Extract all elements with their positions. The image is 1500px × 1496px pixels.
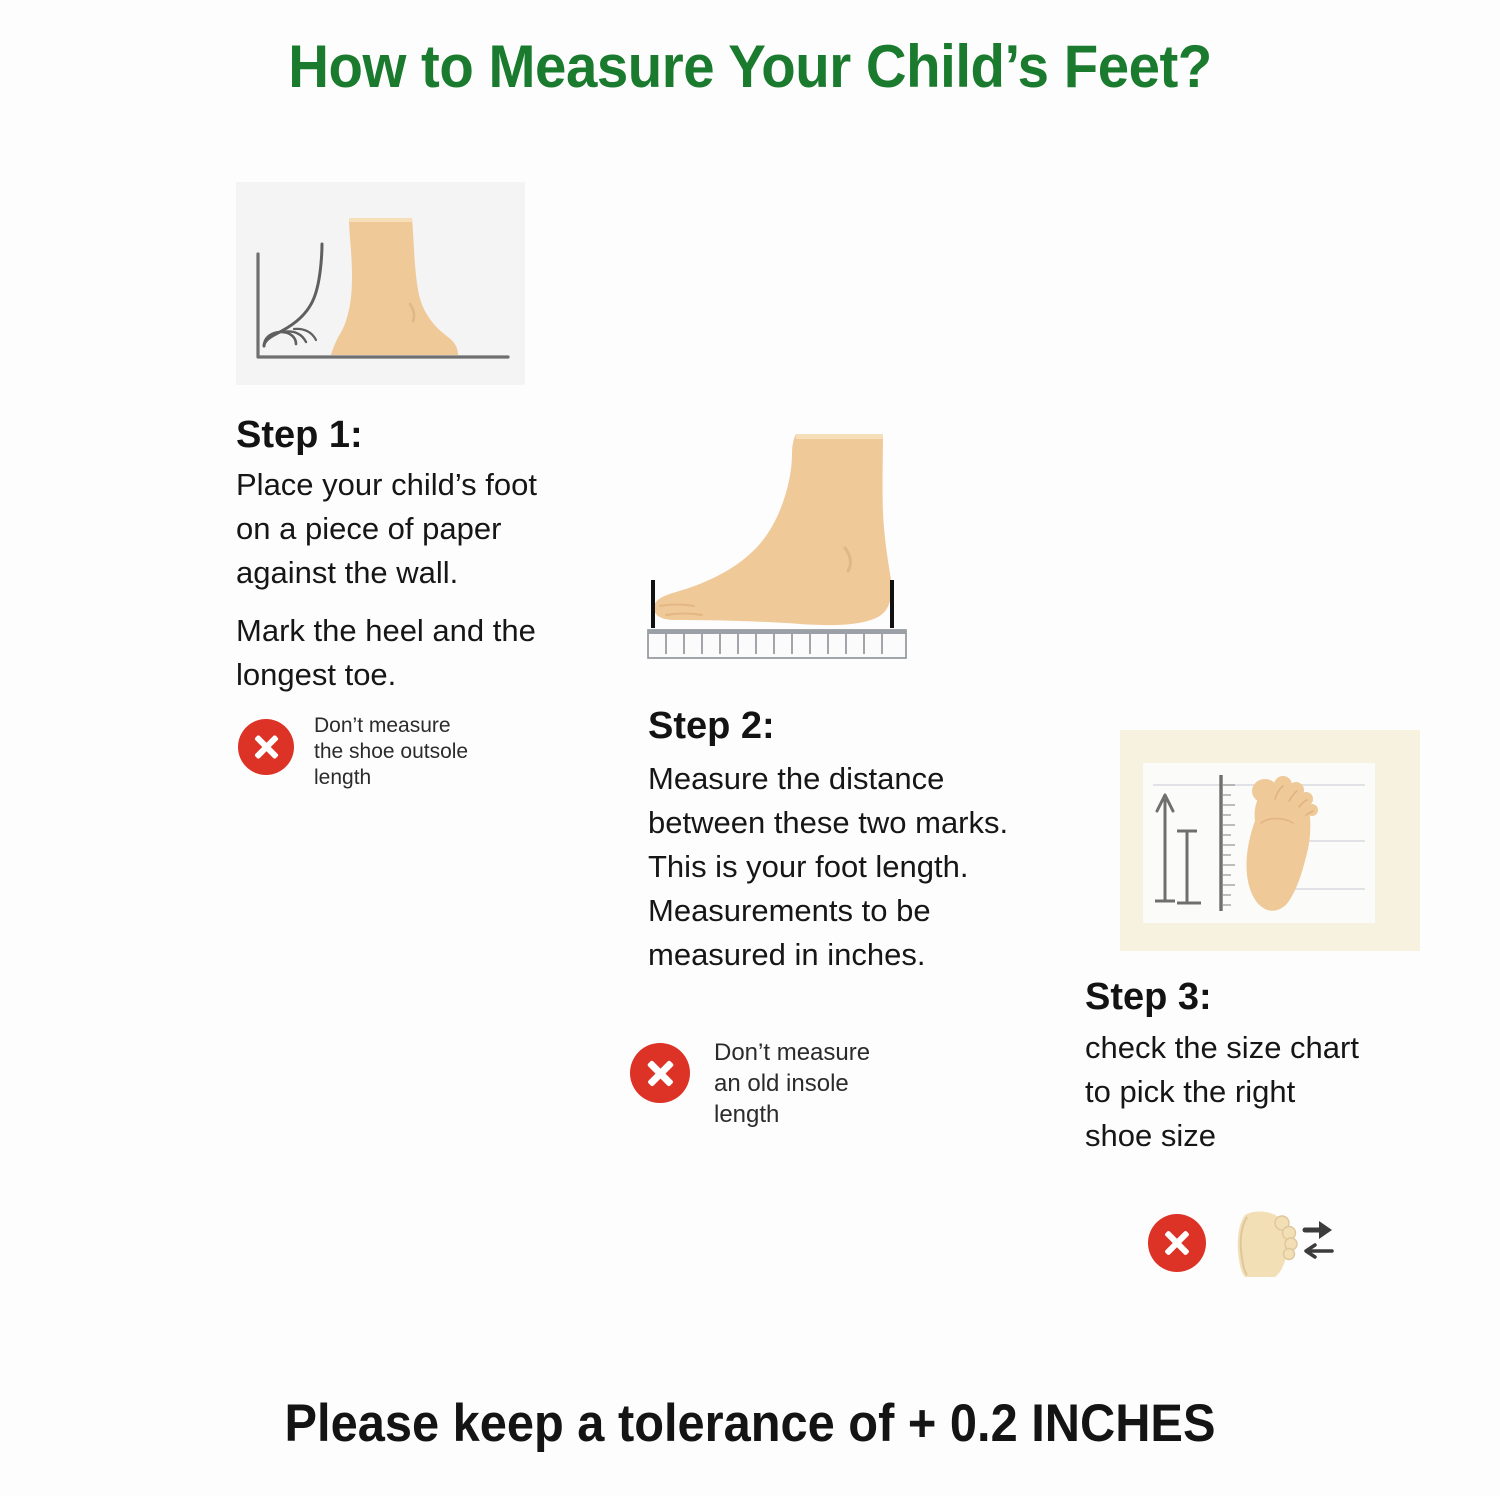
step-1-warning-line-1: Don’t measure bbox=[314, 713, 468, 739]
step-1-warning-text: Don’t measure the shoe outsole length bbox=[314, 713, 468, 791]
step-1-heading: Step 1: bbox=[236, 414, 363, 457]
step-2-warning-text: Don’t measure an old insole length bbox=[714, 1037, 870, 1130]
step-1-body: Place your child’s foot on a piece of pa… bbox=[236, 463, 537, 697]
step-2-warning-line-3: length bbox=[714, 1099, 870, 1130]
step-1-warning-line-2: the shoe outsole bbox=[314, 739, 468, 765]
step-1-line-5: longest toe. bbox=[236, 653, 537, 697]
step-2-line-5: measured in inches. bbox=[648, 933, 1008, 977]
step-2-line-2: between these two marks. bbox=[648, 801, 1008, 845]
step-3-line-3: shoe size bbox=[1085, 1114, 1359, 1158]
step-2-warning-line-2: an old insole bbox=[714, 1068, 870, 1099]
step-1-line-1: Place your child’s foot bbox=[236, 463, 537, 507]
foot-sole-with-arrows-icon bbox=[1231, 1203, 1336, 1283]
foot-side-against-wall-icon bbox=[236, 182, 525, 385]
measure-feet-infographic: How to Measure Your Child’s Feet? Step 1… bbox=[0, 0, 1500, 1496]
tolerance-note: Please keep a tolerance of + 0.2 INCHES bbox=[60, 1393, 1440, 1454]
step-2-heading: Step 2: bbox=[648, 705, 775, 748]
step-1-line-4: Mark the heel and the bbox=[236, 609, 537, 653]
step-2-body: Measure the distance between these two m… bbox=[648, 757, 1008, 977]
step-3-warning bbox=[1148, 1203, 1336, 1283]
step-1-warning: [data-name="step-1-warning"] .warn-circl… bbox=[238, 713, 468, 791]
step-3-line-2: to pick the right bbox=[1085, 1070, 1359, 1114]
step-2-warning: [data-name="step-2-warning"] .warn-circl… bbox=[630, 1037, 870, 1130]
step-3-illustration bbox=[1120, 730, 1420, 951]
step-2-line-3: This is your foot length. bbox=[648, 845, 1008, 889]
step-1-line-3: against the wall. bbox=[236, 551, 537, 595]
foot-side-with-ruler-and-marks-icon bbox=[640, 420, 940, 670]
step-3-heading: Step 3: bbox=[1085, 976, 1212, 1019]
step-3-body: check the size chart to pick the right s… bbox=[1085, 1026, 1359, 1158]
red-x-circle-icon: [data-name="step-1-warning"] .warn-circl… bbox=[238, 719, 294, 775]
arrow-right-icon bbox=[1305, 1221, 1332, 1239]
step-1-illustration bbox=[236, 182, 525, 385]
step-1-line-2: on a piece of paper bbox=[236, 507, 537, 551]
step-3-chart-panel bbox=[1143, 763, 1375, 923]
step-2-warning-line-1: Don’t measure bbox=[714, 1037, 870, 1068]
step-2-line-1: Measure the distance bbox=[648, 757, 1008, 801]
step-2-illustration bbox=[640, 420, 940, 670]
step-2-line-4: Measurements to be bbox=[648, 889, 1008, 933]
step-3-line-1: check the size chart bbox=[1085, 1026, 1359, 1070]
arrow-left-icon bbox=[1306, 1245, 1332, 1257]
foot-sole-on-measuring-chart-icon bbox=[1143, 763, 1375, 923]
page-title: How to Measure Your Child’s Feet? bbox=[45, 32, 1455, 101]
red-x-circle-icon bbox=[1148, 1214, 1206, 1272]
red-x-circle-icon: [data-name="step-2-warning"] .warn-circl… bbox=[630, 1043, 690, 1103]
step-1-warning-line-3: length bbox=[314, 765, 468, 791]
